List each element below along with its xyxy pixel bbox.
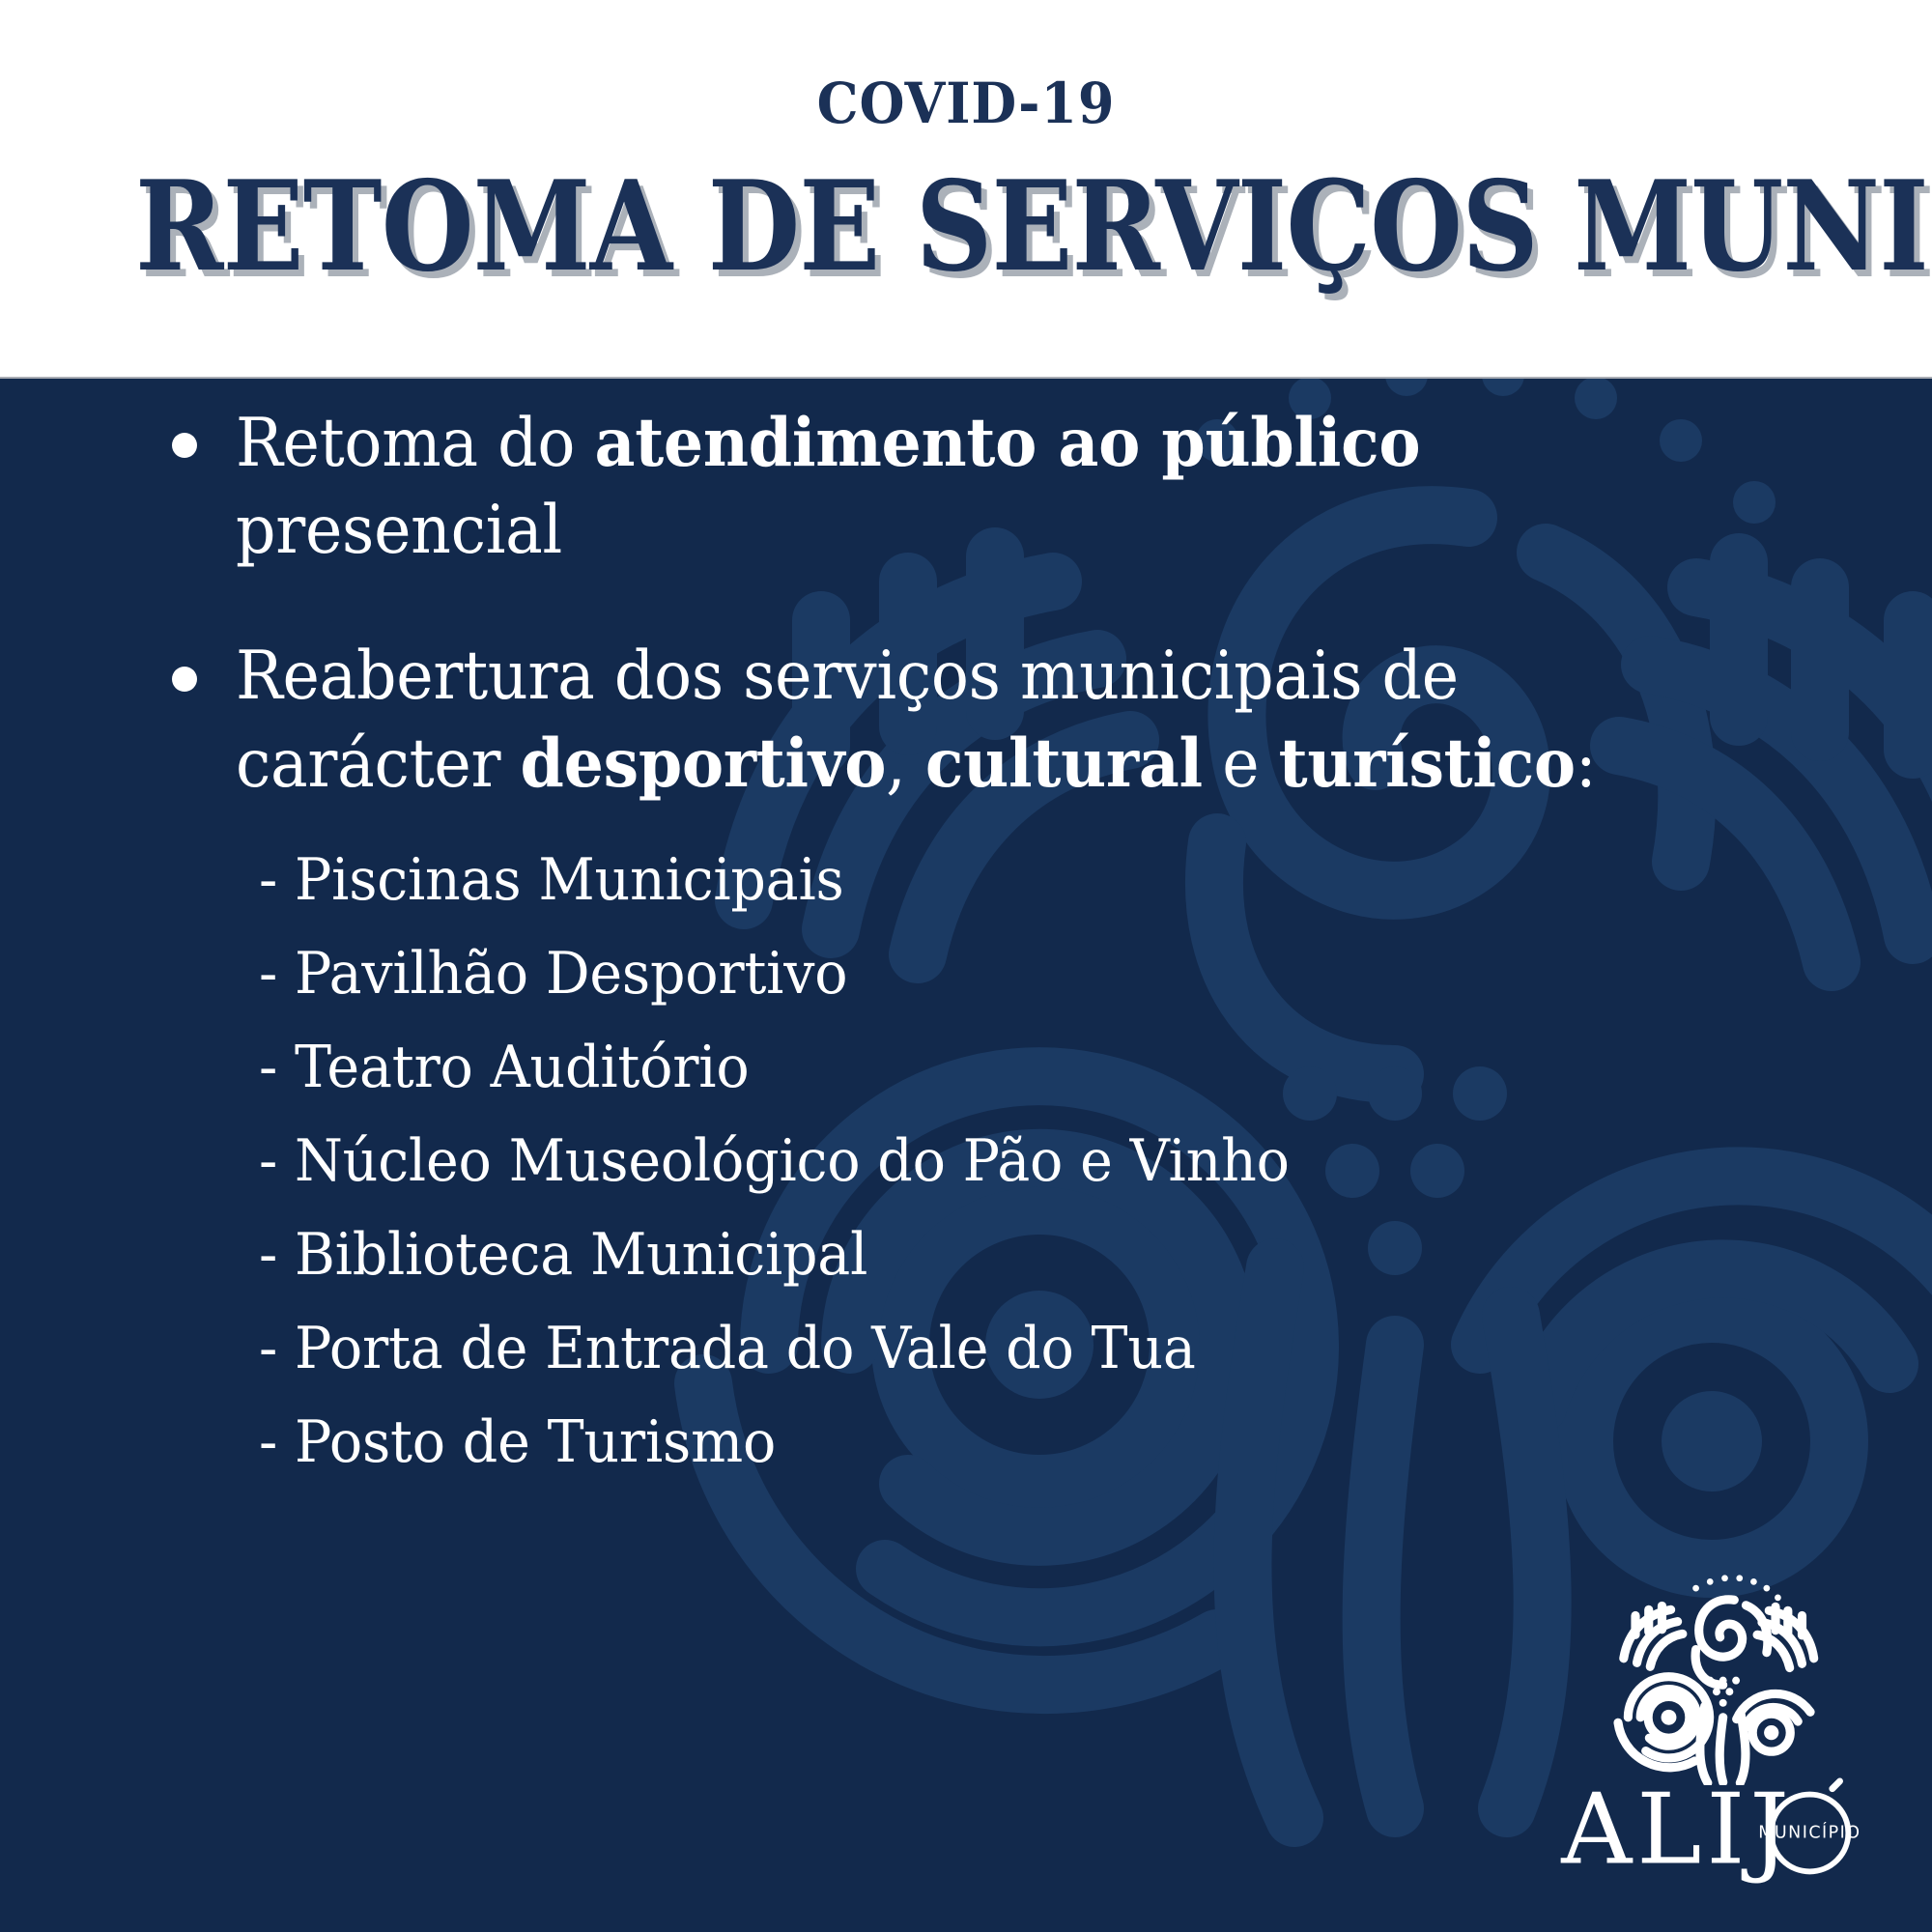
covid-eyebrow: COVID-19: [68, 0, 1864, 131]
header-inner: COVID-19 RETOMA DE SERVIÇOS MUNICIPAIS: [0, 0, 1932, 291]
sub-list-item-turismo: - Posto de Turismo: [259, 1413, 1635, 1471]
bullet-2-mid-2: e: [1203, 725, 1279, 803]
sub-list-item-porta-tua: - Porta de Entrada do Vale do Tua: [259, 1320, 1635, 1378]
sub-list-item-biblioteca: - Biblioteca Municipal: [259, 1226, 1635, 1284]
list-item: Reabertura dos serviços municipais de ca…: [172, 634, 1718, 808]
content-area: Retoma do atendimento ao público presenc…: [0, 379, 1932, 1932]
bullet-text: Retoma do atendimento ao público presenc…: [236, 400, 1629, 574]
bullet-list: Retoma do atendimento ao público presenc…: [172, 400, 1718, 868]
sub-list-item-piscinas: - Piscinas Municipais: [259, 851, 1635, 909]
bullet-text: Reabertura dos serviços municipais de ca…: [236, 634, 1629, 808]
services-sub-list: - Piscinas Municipais - Pavilhão Desport…: [259, 851, 1708, 1507]
bullet-2-post: :: [1576, 725, 1597, 803]
alijo-logo: ALIJ MUNICÍPIO: [1557, 1561, 1876, 1889]
sub-list-item-pavilhao: - Pavilhão Desportivo: [259, 945, 1635, 1003]
sub-list-item-teatro: - Teatro Auditório: [259, 1038, 1635, 1096]
bullet-2-bold-desportivo: desportivo: [521, 724, 887, 803]
bullet-dot-icon: [172, 433, 197, 458]
alijo-wordmark: ALIJ MUNICÍPIO: [1557, 1777, 1876, 1886]
page-title: RETOMA DE SERVIÇOS MUNICIPAIS: [135, 131, 1797, 291]
sub-list-item-nucleo: - Núcleo Museológico do Pão e Vinho: [259, 1132, 1635, 1190]
poster-root: COVID-19 RETOMA DE SERVIÇOS MUNICIPAIS: [0, 0, 1932, 1932]
bullet-2-mid-1: ,: [886, 725, 925, 803]
list-item: Retoma do atendimento ao público presenc…: [172, 400, 1718, 574]
bullet-2-bold-cultural: cultural: [925, 724, 1203, 803]
alijo-fingerprint-emblem-icon: [1604, 1561, 1835, 1785]
svg-text:MUNICÍPIO: MUNICÍPIO: [1758, 1821, 1861, 1842]
bullet-dot-icon: [172, 667, 197, 692]
bullet-2-bold-turistico: turístico: [1279, 724, 1576, 803]
bullet-1-post: presencial: [236, 492, 562, 569]
header-band: COVID-19 RETOMA DE SERVIÇOS MUNICIPAIS: [0, 0, 1932, 379]
body-band: Retoma do atendimento ao público presenc…: [0, 379, 1932, 1932]
bullet-1-pre: Retoma do: [236, 405, 594, 482]
bullet-1-bold: atendimento ao público: [594, 404, 1420, 482]
